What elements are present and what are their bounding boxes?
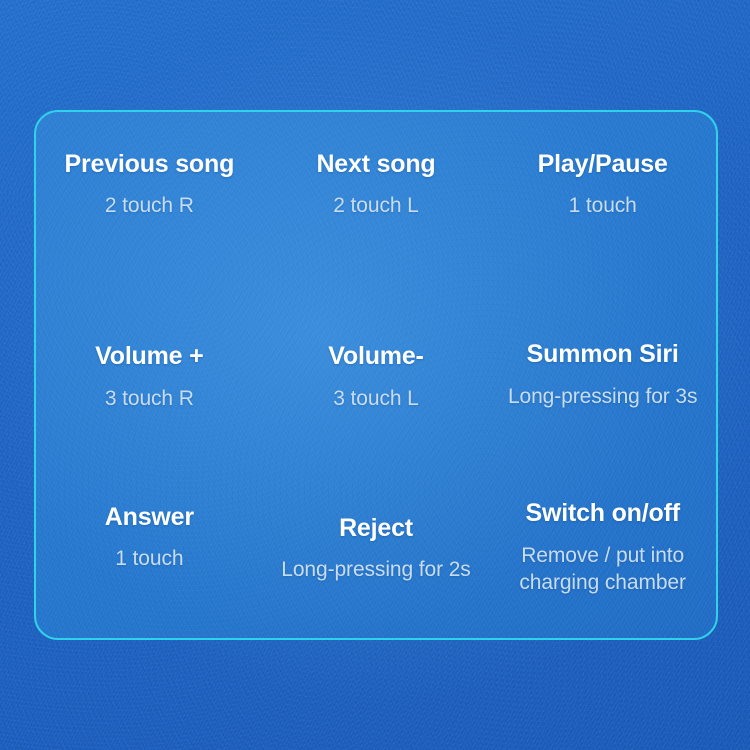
gesture-cell-previous-song: Previous song 2 touch R (36, 110, 263, 273)
gesture-cell-volume-up: Volume + 3 touch R (36, 290, 263, 465)
gesture-subtitle: 2 touch R (105, 193, 194, 220)
gesture-title: Summon Siri (527, 341, 679, 369)
gesture-title: Switch on/off (526, 500, 680, 528)
gesture-subtitle: Long-pressing for 2s (281, 557, 470, 584)
gesture-title: Play/Pause (538, 151, 668, 179)
gesture-cell-next-song: Next song 2 touch L (263, 110, 490, 273)
gesture-subtitle: 2 touch L (333, 193, 419, 220)
gesture-cell-volume-down: Volume- 3 touch L (263, 290, 490, 465)
gesture-subtitle: 3 touch L (333, 386, 419, 413)
gesture-subtitle: Remove / put into charging chamber (495, 543, 710, 597)
gesture-title: Next song (316, 151, 435, 179)
gesture-title: Previous song (64, 151, 234, 179)
gesture-title: Reject (339, 515, 413, 543)
gesture-guide-card: Previous song 2 touch R Next song 2 touc… (34, 110, 718, 640)
gesture-subtitle: Long-pressing for 3s (508, 384, 697, 411)
gesture-cell-play-pause: Play/Pause 1 touch (489, 110, 716, 273)
gesture-cell-switch-on-off: Switch on/off Remove / put into charging… (489, 461, 716, 636)
gesture-title: Volume + (95, 343, 203, 371)
gesture-title: Volume- (328, 343, 423, 371)
gesture-title: Answer (105, 504, 194, 532)
gesture-cell-reject: Reject Long-pressing for 2s (263, 462, 490, 637)
gesture-subtitle: 1 touch (569, 193, 637, 220)
gesture-cell-summon-siri: Summon Siri Long-pressing for 3s (489, 288, 716, 463)
gesture-cell-answer: Answer 1 touch (36, 451, 263, 626)
gesture-subtitle: 3 touch R (105, 386, 194, 413)
gesture-subtitle: 1 touch (115, 546, 183, 573)
gesture-grid: Previous song 2 touch R Next song 2 touc… (36, 112, 716, 638)
